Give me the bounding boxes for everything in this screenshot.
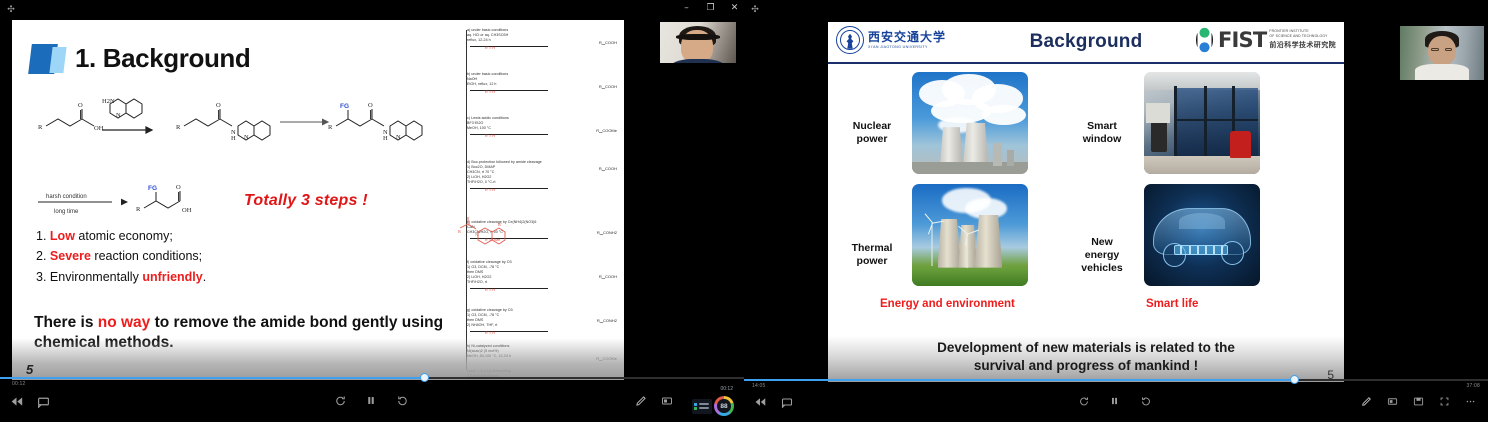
fullscreen-icon[interactable] — [1439, 396, 1452, 409]
cell-label-smart-window: Smart window — [1066, 120, 1138, 146]
fist-mark-icon — [1194, 27, 1215, 53]
slide-title-row: 1. Background — [30, 42, 250, 75]
presenter-webcam-right[interactable] — [1400, 26, 1484, 80]
cell-label-ev: New energy vehicles — [1066, 236, 1138, 275]
maximize-button[interactable]: ❐ — [705, 2, 716, 14]
list-item: 1. Low atomic economy; — [36, 226, 206, 246]
svg-text:R: R — [38, 124, 43, 131]
red-substrate-structure: R N R' — [458, 202, 506, 246]
right-progress-fill — [744, 379, 1295, 381]
widget-time: 00:12 — [720, 386, 733, 392]
left-video-player: ✣ – ❐ ✕ 1. Background — [0, 0, 744, 422]
condition-entry-b: b) under basic conditions NaOH EtOH, ref… — [467, 72, 623, 95]
left-progress-fill — [0, 377, 424, 379]
condition-entry-a: a) under basic conditions aq. HCl or aq.… — [467, 28, 623, 51]
svg-text:O: O — [368, 102, 373, 109]
condition-entry-g: g) oxidative cleavage by O3 1) O3, DCM, … — [467, 308, 623, 336]
minimize-button[interactable]: – — [681, 2, 692, 14]
dual-video-player-screenshot: ✣ – ❐ ✕ 1. Background — [0, 0, 1488, 422]
screen-icon[interactable] — [661, 395, 674, 408]
app-badge-icon-right: ✣ — [750, 4, 760, 14]
scheme-top-svg: ROHO H2NN RONHN RONHN FG — [32, 82, 432, 150]
electric-vehicle-photo — [1144, 184, 1260, 286]
slide-header: 西安交通大学 XI'AN JIAOTONG UNIVERSITY Backgro… — [828, 22, 1344, 64]
right-video-player: ✣ 西安交通大学 XI'AN JIAOTONG UNIVERSITY Backg… — [744, 0, 1488, 422]
svg-text:R: R — [458, 229, 461, 234]
pause-icon[interactable] — [1110, 396, 1123, 409]
condition-entry-f: f) oxidative cleavage by O3 1) O3, DCM, … — [467, 260, 623, 293]
institute-wordmark: FIST — [1218, 28, 1266, 52]
slide-badge-icon — [30, 42, 66, 75]
fg-label-top: FG — [340, 103, 349, 110]
totally-callout: Totally 3 steps ! — [244, 192, 368, 210]
svg-text:O: O — [216, 102, 221, 109]
caption-smart-life: Smart life — [1146, 298, 1198, 310]
svg-text:R: R — [136, 206, 141, 213]
widget-mini-panel — [692, 399, 712, 414]
forward-icon[interactable] — [397, 395, 410, 408]
right-title-bar: ✣ — [744, 0, 1488, 14]
left-control-bar — [0, 386, 744, 422]
more-icon[interactable] — [1465, 396, 1478, 409]
svg-text:O: O — [78, 102, 83, 109]
presenter-webcam-left[interactable] — [660, 22, 736, 82]
save-icon[interactable] — [1413, 396, 1426, 409]
replay-icon[interactable] — [1079, 396, 1092, 409]
svg-text:H: H — [383, 135, 388, 142]
institute-en-line2: OF SCIENCE AND TECHNOLOGY — [1269, 35, 1336, 39]
app-badge-icon: ✣ — [6, 4, 16, 14]
drawback-bullet-list: 1. Low atomic economy; 2. Severe reactio… — [36, 226, 206, 287]
svg-text:N: N — [244, 134, 249, 141]
svg-text:OH: OH — [182, 207, 192, 214]
right-progress-area[interactable]: 14:05 37:08 — [744, 372, 1488, 388]
right-progress-knob[interactable] — [1290, 375, 1299, 384]
rewind-icon[interactable] — [10, 395, 23, 408]
note-icon[interactable] — [37, 395, 50, 408]
conditions-figure: a) under basic conditions aq. HCl or aq.… — [464, 24, 624, 376]
cell-label-thermal: Thermal power — [836, 242, 908, 268]
svg-text:O: O — [176, 184, 181, 191]
rewind-icon[interactable] — [754, 396, 767, 409]
pen-icon[interactable] — [635, 395, 648, 408]
list-item: 3. Environmentally unfriendly. — [36, 267, 206, 287]
slide-title: 1. Background — [75, 43, 250, 74]
svg-text:N: N — [396, 134, 401, 141]
caption-energy-environment: Energy and environment — [880, 298, 1015, 310]
cell-label-nuclear: Nuclear power — [836, 120, 908, 146]
thermal-power-photo — [912, 184, 1028, 286]
replay-icon[interactable] — [335, 395, 348, 408]
left-slide-canvas: 1. Background — [12, 20, 624, 380]
left-title-bar: ✣ – ❐ ✕ — [0, 0, 744, 18]
institute-logo: FIST FRONTIER INSTITUTE OF SCIENCE AND T… — [1194, 27, 1336, 53]
left-progress-knob[interactable] — [420, 373, 429, 382]
note-icon[interactable] — [781, 396, 794, 409]
svg-text:H2N: H2N — [102, 98, 115, 105]
fg-label-bottom: FG — [148, 185, 157, 192]
pause-icon[interactable] — [366, 395, 379, 408]
footer-line-1: Development of new materials is related … — [866, 339, 1306, 357]
webcam-video-left — [660, 22, 736, 82]
right-control-bar — [744, 388, 1488, 422]
window-buttons: – ❐ ✕ — [681, 2, 740, 14]
widget-timer-label: 88 — [720, 403, 727, 410]
left-slide-number: 5 — [26, 362, 33, 377]
pen-icon[interactable] — [1361, 396, 1374, 409]
left-progress-area[interactable]: 5 00:12 — [0, 370, 744, 386]
condition-entry-c: c) Lewis acidic conditions BF3·Et2O MeOH… — [467, 116, 623, 139]
svg-text:R: R — [328, 124, 333, 131]
reaction-scheme-top: ROHO H2NN RONHN RONHN FG — [32, 82, 432, 150]
floating-meeting-widget[interactable]: 88 00:12 — [692, 396, 734, 416]
slide-body-grid: Nuclear power Smart window Thermal power… — [828, 66, 1344, 338]
slide-footer-text: Development of new materials is related … — [866, 339, 1306, 374]
widget-timer-ring[interactable]: 88 — [714, 396, 734, 416]
smart-window-photo — [1144, 72, 1260, 174]
institute-cn: 前沿科学技术研究院 — [1269, 40, 1336, 50]
svg-text:OH: OH — [94, 125, 104, 132]
list-item: 2. Severe reaction conditions; — [36, 246, 206, 266]
forward-icon[interactable] — [1141, 396, 1154, 409]
webcam-video-right — [1400, 26, 1484, 80]
condition-over: harsh condition — [46, 194, 87, 200]
svg-text:N: N — [116, 112, 121, 119]
svg-text:H: H — [231, 135, 236, 142]
nuclear-power-photo — [912, 72, 1028, 174]
svg-text:R: R — [176, 124, 181, 131]
close-button[interactable]: ✕ — [729, 2, 740, 14]
condition-under: long time — [54, 209, 79, 215]
svg-text:R': R' — [498, 222, 502, 227]
screen-icon[interactable] — [1387, 396, 1400, 409]
right-slide-canvas: 西安交通大学 XI'AN JIAOTONG UNIVERSITY Backgro… — [828, 22, 1344, 382]
condition-entry-d: d) Boc-protection followed by amide clea… — [467, 160, 623, 193]
